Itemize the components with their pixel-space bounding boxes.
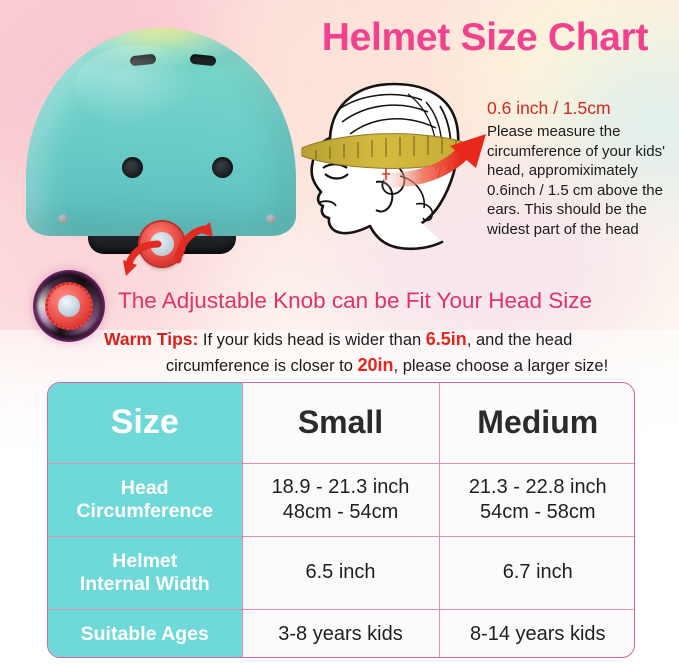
table-row: Suitable Ages 3-8 years kids 8-14 years … — [48, 609, 635, 658]
helmet-shell — [26, 28, 296, 236]
cell-line1: 18.9 - 21.3 inch — [243, 475, 439, 500]
cell-line1: 21.3 - 22.8 inch — [440, 475, 636, 500]
table-row: Head Circumference 18.9 - 21.3 inch 48cm… — [48, 463, 635, 536]
size-chart-table: Size Small Medium Head Circumference 18.… — [47, 382, 635, 658]
rotate-left-arrow-icon — [122, 238, 166, 282]
measurement-instruction-text: Please measure the circumference of your… — [487, 122, 677, 239]
cell-line2: 48cm - 54cm — [243, 500, 439, 525]
cell-small-head-circumference: 18.9 - 21.3 inch 48cm - 54cm — [242, 463, 439, 536]
cell-medium-suitable-ages: 8-14 years kids — [439, 609, 635, 658]
warm-tips-line2-pre: circumference is closer to — [166, 357, 358, 375]
row-label-suitable-ages: Suitable Ages — [48, 609, 242, 658]
row-label-line1: Helmet — [48, 550, 242, 573]
row-label-helmet-internal-width: Helmet Internal Width — [48, 536, 242, 609]
row-label-line2: Internal Width — [48, 573, 242, 596]
row-label-head-circumference: Head Circumference — [48, 463, 242, 536]
warm-tips-accent-circumference: 20in — [358, 355, 394, 375]
helmet-rivet-icon — [58, 214, 68, 224]
warm-tips-line2: circumference is closer to 20in, please … — [104, 353, 670, 379]
page-title: Helmet Size Chart — [300, 16, 670, 60]
warm-tips-part2: , and the head — [467, 331, 573, 349]
knob-headline: The Adjustable Knob can be Fit Your Head… — [118, 288, 592, 314]
head-profile-illustration — [290, 76, 505, 261]
helmet-hole-icon — [122, 157, 143, 178]
table-header-small: Small — [242, 383, 439, 463]
warm-tips-accent-width: 6.5in — [426, 329, 467, 349]
rotate-right-arrow-icon — [170, 220, 214, 264]
cell-medium-head-circumference: 21.3 - 22.8 inch 54cm - 58cm — [439, 463, 635, 536]
helmet-vent-icon — [190, 54, 217, 67]
helmet-rivet-icon — [266, 214, 276, 224]
cell-medium-internal-width: 6.7 inch — [439, 536, 635, 609]
cell-line2: 54cm - 58cm — [440, 500, 636, 525]
table-header-medium: Medium — [439, 383, 635, 463]
table-header-row: Size Small Medium — [48, 383, 635, 463]
row-label-line1: Head — [48, 477, 242, 500]
table-header-size: Size — [48, 383, 242, 463]
adjustable-knob-icon — [33, 270, 105, 342]
cell-small-internal-width: 6.5 inch — [242, 536, 439, 609]
warm-tips-block: Warm Tips: If your kids head is wider th… — [104, 327, 670, 378]
warm-tips-label: Warm Tips: — [104, 329, 198, 349]
measurement-callout: 0.6 inch / 1.5cm — [487, 98, 677, 119]
measurement-instructions: 0.6 inch / 1.5cm Please measure the circ… — [487, 98, 677, 239]
head-measurement-diagram — [290, 76, 505, 261]
cell-small-suitable-ages: 3-8 years kids — [242, 609, 439, 658]
warm-tips-line2-post: , please choose a larger size! — [394, 357, 609, 375]
warm-tips-part1: If your kids head is wider than — [198, 331, 425, 349]
knob-dial — [47, 284, 91, 328]
helmet-hole-icon — [212, 157, 233, 178]
row-label-line2: Circumference — [48, 500, 242, 523]
helmet-vent-icon — [130, 54, 157, 67]
table-row: Helmet Internal Width 6.5 inch 6.7 inch — [48, 536, 635, 609]
helmet-product-image — [18, 24, 308, 279]
